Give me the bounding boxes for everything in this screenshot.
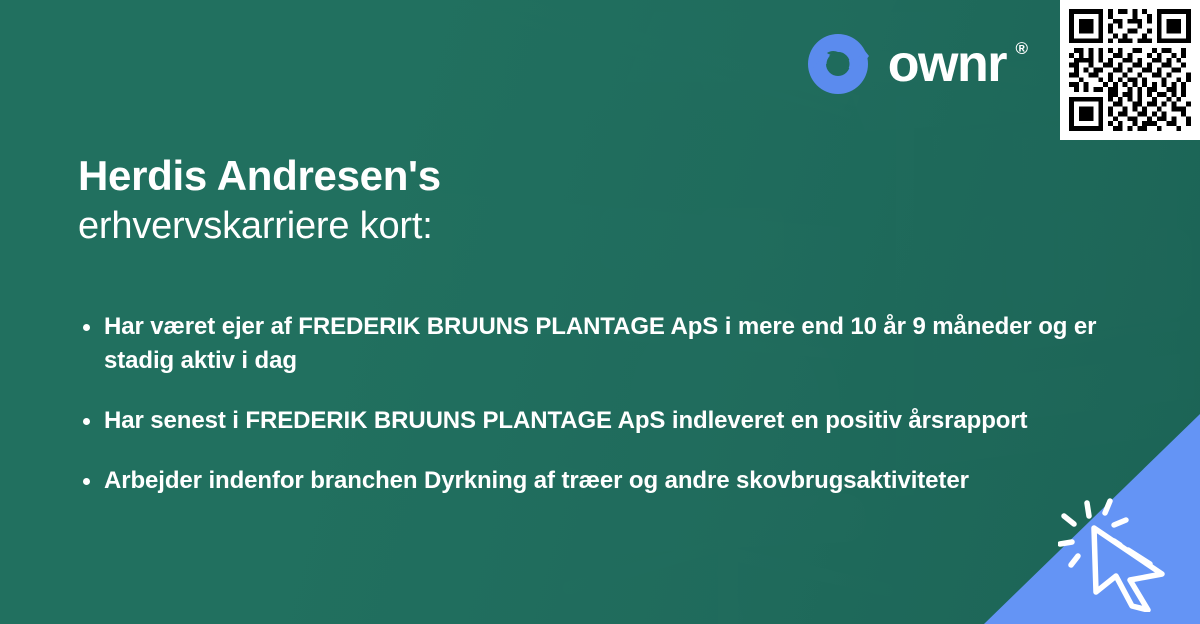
fact-text: Arbejder indenfor branchen Dyrkning af t… — [104, 467, 969, 494]
bullet-dot-icon — [83, 418, 90, 425]
list-item: Arbejder indenfor branchen Dyrkning af t… — [78, 464, 1098, 498]
bullet-dot-icon — [83, 478, 90, 485]
ownr-logo[interactable]: ownr ® — [806, 32, 1028, 96]
page-title: Herdis Andresen's erhvervskarriere kort: — [78, 152, 838, 249]
ownr-wordmark: ownr ® — [888, 38, 1028, 90]
fact-text: Har senest i FREDERIK BRUUNS PLANTAGE Ap… — [104, 407, 1027, 434]
registered-trademark-symbol: ® — [1015, 40, 1028, 57]
bullet-dot-icon — [83, 324, 90, 331]
business-career-card: ownr ® Herdis Andresen's erhvervskarrier… — [0, 0, 1200, 624]
ownr-wordmark-text: ownr — [888, 35, 1006, 93]
list-item: Har været ejer af FREDERIK BRUUNS PLANTA… — [78, 310, 1098, 378]
fact-text: Har været ejer af FREDERIK BRUUNS PLANTA… — [104, 313, 1096, 374]
title-person-name: Herdis Andresen's — [78, 152, 838, 199]
qr-code[interactable] — [1060, 0, 1200, 140]
career-facts-list: Har været ejer af FREDERIK BRUUNS PLANTA… — [78, 310, 1098, 498]
list-item: Har senest i FREDERIK BRUUNS PLANTAGE Ap… — [78, 404, 1098, 438]
ownr-swirl-circle-icon — [806, 32, 870, 96]
title-subtitle: erhvervskarriere kort: — [78, 203, 838, 249]
